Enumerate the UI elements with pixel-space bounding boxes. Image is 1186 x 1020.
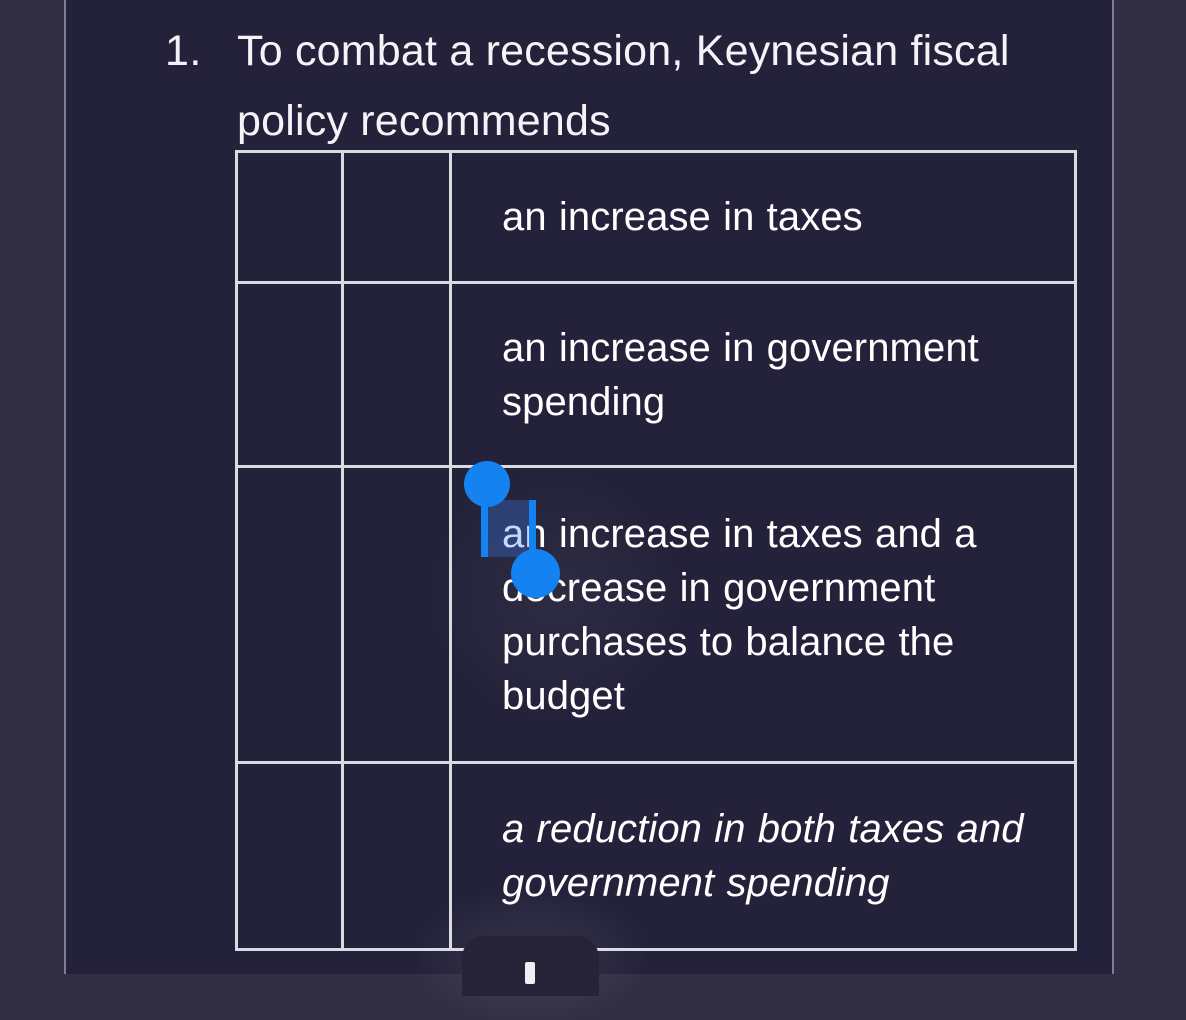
option-mark-cell[interactable] — [237, 467, 343, 763]
option-radio-cell[interactable] — [343, 152, 451, 283]
option-label-c[interactable]: an increase in taxes and a decrease in g… — [452, 497, 1074, 733]
option-radio-cell[interactable] — [343, 283, 451, 467]
option-text-cell[interactable]: an increase in taxes and a decrease in g… — [451, 467, 1076, 763]
question-block: 1. To combat a recession, Keynesian fisc… — [165, 16, 1095, 156]
option-mark-cell[interactable] — [237, 763, 343, 950]
answer-options-table: an increase in taxes an increase in gove… — [235, 150, 1077, 951]
option-radio-cell[interactable] — [343, 467, 451, 763]
document-page: 1. To combat a recession, Keynesian fisc… — [64, 0, 1114, 974]
option-text-cell[interactable]: an increase in taxes — [451, 152, 1076, 283]
option-label-b[interactable]: an increase in government spending — [452, 311, 1074, 439]
table-row[interactable]: an increase in taxes and a decrease in g… — [237, 467, 1076, 763]
table-row[interactable]: an increase in taxes — [237, 152, 1076, 283]
question-number: 1. — [165, 16, 237, 86]
screen: 1. To combat a recession, Keynesian fisc… — [0, 0, 1186, 974]
option-mark-cell[interactable] — [237, 152, 343, 283]
option-label-a[interactable]: an increase in taxes — [452, 180, 1074, 254]
table-row[interactable]: a reduction in both taxes and government… — [237, 763, 1076, 950]
question-prompt: To combat a recession, Keynesian fiscal … — [237, 16, 1095, 156]
option-text-cell[interactable]: an increase in government spending — [451, 283, 1076, 467]
context-menu-handle-icon[interactable] — [525, 962, 535, 984]
option-mark-cell[interactable] — [237, 283, 343, 467]
table-row[interactable]: an increase in government spending — [237, 283, 1076, 467]
